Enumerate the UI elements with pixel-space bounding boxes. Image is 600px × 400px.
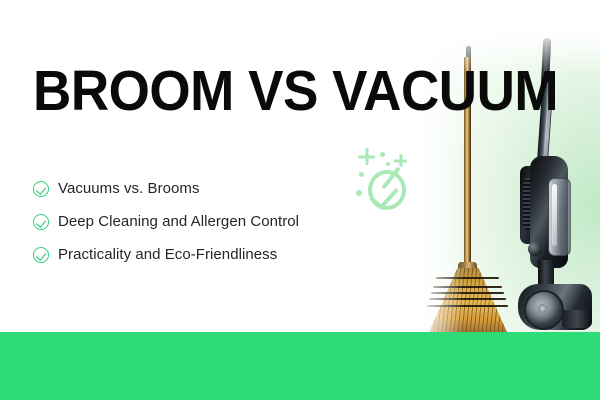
list-item: Vacuums vs. Brooms bbox=[33, 172, 363, 205]
sparkle-star-icon bbox=[394, 154, 407, 167]
vacuum-floor-head bbox=[562, 310, 592, 328]
list-item: Deep Cleaning and Allergen Control bbox=[33, 205, 363, 238]
bottom-accent-bar bbox=[0, 332, 600, 400]
sparkle-dot bbox=[380, 152, 385, 157]
list-item-label: Deep Cleaning and Allergen Control bbox=[58, 213, 299, 230]
page-title: BROOM VS VACUUM bbox=[33, 63, 558, 120]
vacuum-wheel-hub bbox=[538, 304, 547, 313]
bullet-list: Vacuums vs. Brooms Deep Cleaning and All… bbox=[33, 172, 363, 271]
check-circle-icon bbox=[33, 181, 49, 197]
sparkle-dot bbox=[386, 162, 390, 166]
sparkle-check-badge bbox=[356, 146, 422, 214]
list-item: Practicality and Eco-Friendliness bbox=[33, 238, 363, 271]
broom-vs-vacuum-banner: BROOM VS VACUUM Vacuums vs. Brooms Deep … bbox=[0, 0, 600, 400]
vacuum-tank-highlight bbox=[552, 184, 557, 246]
list-item-label: Vacuums vs. Brooms bbox=[58, 180, 200, 197]
sparkle-star-icon bbox=[358, 148, 375, 165]
list-item-label: Practicality and Eco-Friendliness bbox=[58, 246, 277, 263]
check-circle-icon bbox=[33, 214, 49, 230]
vacuum-control-knob bbox=[528, 242, 542, 256]
check-circle-icon bbox=[33, 247, 49, 263]
